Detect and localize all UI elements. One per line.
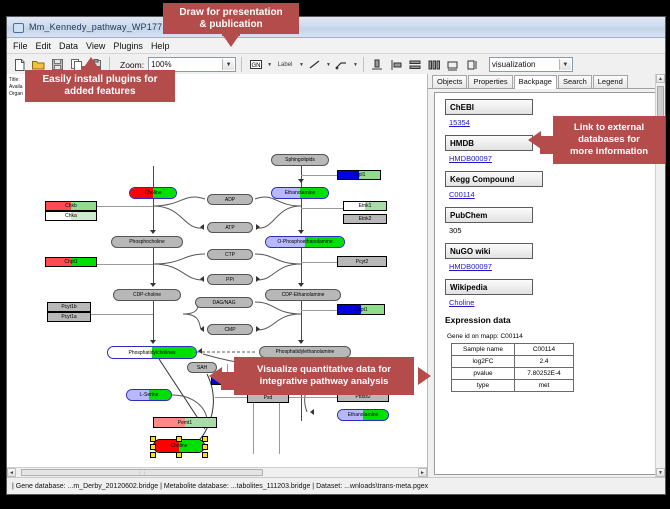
- edge: [301, 301, 302, 342]
- canvas-hscrollbar[interactable]: ◄ ⋮⋮ ►: [7, 467, 427, 477]
- exp-value: 7.80252E-4: [515, 368, 574, 380]
- edge: [289, 397, 337, 398]
- selection-handle[interactable]: [202, 436, 208, 442]
- gene-etnk2[interactable]: Etnk2: [343, 214, 387, 224]
- visualization-chevron-icon[interactable]: ▼: [559, 59, 571, 70]
- pathway-drawing[interactable]: Title: Availa Organ: [7, 74, 427, 477]
- node-cdp-choline[interactable]: CDP-choline: [113, 289, 181, 301]
- visualization-combo[interactable]: visualization ▼: [489, 57, 573, 72]
- svg-text:GN: GN: [251, 63, 260, 69]
- chevron-down-icon[interactable]: ▼: [222, 59, 234, 70]
- zoom-value: 100%: [151, 60, 171, 69]
- gene-pcyt1a[interactable]: Pcyt1a: [47, 312, 91, 322]
- menu-item-file[interactable]: File: [13, 41, 28, 51]
- db-header-hmdb: HMDB: [445, 135, 533, 151]
- scroll-down-icon[interactable]: ▼: [656, 468, 665, 477]
- scroll-right-icon[interactable]: ►: [418, 468, 427, 477]
- callout-plugins-line2: added features: [64, 86, 135, 98]
- selection-handle[interactable]: [202, 444, 208, 450]
- node-cdp-ethanolamine[interactable]: CDP-Ethanolamine: [265, 289, 341, 301]
- label-dropdown-icon[interactable]: ▼: [299, 62, 304, 68]
- datanode-dropdown-icon[interactable]: ▼: [267, 62, 272, 68]
- selection-handle[interactable]: [150, 444, 156, 450]
- node-choline-top[interactable]: Choline: [129, 187, 177, 199]
- edge: [97, 206, 153, 207]
- node-dag-nag[interactable]: DAG/NAG: [195, 297, 253, 308]
- arrow-icon: [198, 348, 202, 354]
- arrow-icon: [256, 276, 260, 282]
- callout-link-stem: [540, 136, 554, 154]
- callout-link-line1: Link to external: [574, 122, 644, 134]
- arrow-icon: [200, 224, 204, 230]
- callout-visualize-line2: integrative pathway analysis: [260, 376, 389, 388]
- callout-visualize-line1: Visualize quantitative data for: [257, 364, 391, 376]
- callout-draw-stem: [222, 30, 240, 36]
- edge: [301, 310, 337, 311]
- node-adp[interactable]: ADP: [207, 194, 253, 205]
- node-ctp[interactable]: CTP: [207, 249, 253, 260]
- app-icon: [12, 21, 24, 33]
- menu-item-data[interactable]: Data: [59, 41, 78, 51]
- callout-visualize: Visualize quantitative data for integrat…: [234, 357, 414, 395]
- label-icon[interactable]: Label: [274, 56, 296, 73]
- toolbar-separator-2: [241, 57, 242, 72]
- menu-item-help[interactable]: Help: [151, 41, 170, 51]
- callout-link-line2: databases for: [578, 134, 640, 146]
- db-header-pubchem: PubChem: [445, 207, 533, 223]
- gene-cept1[interactable]: Cept1: [337, 304, 385, 315]
- gene-sgpl1[interactable]: Sgpl1: [337, 170, 381, 180]
- expression-data-title: Expression data: [445, 315, 660, 325]
- db-header-wikipedia: Wikipedia: [445, 279, 533, 295]
- zoom-label: Zoom:: [120, 60, 144, 70]
- db-link-nugowiki[interactable]: HMDB00097: [449, 262, 660, 271]
- exp-key: log2FC: [452, 356, 515, 368]
- title-bar: Mm_Kennedy_pathway_WP1771_45176.gpml: [7, 17, 665, 38]
- arrow-icon: [298, 179, 304, 183]
- gene-pemt1[interactable]: Pemt1: [153, 417, 217, 428]
- table-row: Sample name C00114: [452, 344, 574, 356]
- selection-handle[interactable]: [202, 452, 208, 458]
- node-atp[interactable]: ATP: [207, 222, 253, 233]
- exp-key: Sample name: [452, 344, 515, 356]
- selection-handle[interactable]: [150, 452, 156, 458]
- tab-objects[interactable]: Objects: [432, 75, 467, 88]
- db-header-nugowiki: NuGO wiki: [445, 243, 533, 259]
- exp-value: met: [515, 380, 574, 392]
- arrow-icon: [298, 230, 304, 234]
- callout-draw-line2: & publication: [199, 19, 262, 31]
- gene-chkb[interactable]: Chkb: [45, 201, 97, 211]
- expression-table: Sample name C00114 log2FC 2.4 pvalue 7.8…: [451, 343, 574, 392]
- edge: [301, 175, 337, 176]
- interaction-icon[interactable]: [333, 56, 350, 73]
- toolbar-separator-3: [363, 57, 364, 72]
- table-row: pvalue 7.80252E-4: [452, 368, 574, 380]
- line-icon[interactable]: [306, 56, 323, 73]
- datanode-icon[interactable]: GN: [247, 56, 264, 73]
- db-header-chebi: ChEBI: [445, 99, 533, 115]
- edge: [301, 166, 302, 187]
- exp-key: pvalue: [452, 368, 515, 380]
- node-phosphatidylcholines[interactable]: Phosphatidylcholines: [107, 346, 197, 359]
- node-ethanolamine-top[interactable]: Ethanolamine: [271, 187, 329, 199]
- node-sphingolipids[interactable]: Sphingolipids: [271, 154, 329, 166]
- node-ethanolamine-bottom[interactable]: Ethanolamine: [337, 409, 389, 421]
- side-panel-tabs: Objects Properties Backpage Search Legen…: [428, 74, 665, 89]
- gene-etnk1[interactable]: Etnk1: [343, 201, 387, 211]
- line-dropdown-icon[interactable]: ▼: [326, 62, 331, 68]
- callout-plugins-line1: Easily install plugins for: [42, 74, 157, 86]
- gene-chpt1[interactable]: Chpt1: [45, 257, 97, 267]
- callout-plugins-stem: [82, 66, 100, 74]
- callout-visualize-stem: [221, 372, 235, 390]
- menu-item-edit[interactable]: Edit: [36, 41, 52, 51]
- selection-handle[interactable]: [176, 452, 182, 458]
- edge: [91, 314, 153, 315]
- exp-key: type: [452, 380, 515, 392]
- visualization-value: visualization: [492, 60, 536, 69]
- size-common-width-icon[interactable]: [445, 56, 462, 73]
- scroll-left-icon[interactable]: ◄: [7, 468, 16, 477]
- arrow-icon: [200, 326, 204, 332]
- arrow-icon: [256, 326, 260, 332]
- edge: [215, 397, 249, 398]
- tab-backpage[interactable]: Backpage: [514, 75, 557, 89]
- db-link-wikipedia[interactable]: Choline: [449, 298, 660, 307]
- stack-vertical-icon[interactable]: [407, 56, 424, 73]
- status-bar: | Gene database: ...m_Derby_20120602.bri…: [7, 477, 665, 494]
- arrow-icon: [200, 276, 204, 282]
- selection-handle[interactable]: [176, 436, 182, 442]
- gene-pcyt1b[interactable]: Pcyt1b: [47, 302, 91, 312]
- arrow-icon: [298, 340, 304, 344]
- node-cmp[interactable]: CMP: [207, 324, 253, 335]
- edge: [301, 208, 343, 209]
- node-phosphocholine[interactable]: Phosphocholine: [111, 236, 183, 248]
- menu-item-view[interactable]: View: [86, 41, 105, 51]
- align-top-icon[interactable]: [369, 56, 386, 73]
- arrow-icon: [256, 224, 260, 230]
- table-row: type met: [452, 380, 574, 392]
- node-l-serine-left[interactable]: L-Serine: [126, 389, 172, 401]
- db-link-kegg[interactable]: C00114: [449, 190, 660, 199]
- callout-link-line3: more information: [570, 146, 648, 158]
- hscroll-thumb[interactable]: ⋮⋮: [21, 469, 263, 476]
- db-value-pubchem: 305: [449, 226, 660, 235]
- edge: [301, 248, 302, 285]
- db-header-kegg: Kegg Compound: [445, 171, 543, 187]
- gene-id-on-mapp: Gene id on mapp: C00114: [447, 333, 660, 340]
- distribute-icon[interactable]: [426, 56, 443, 73]
- edge: [301, 262, 337, 263]
- status-text: | Gene database: ...m_Derby_20120602.bri…: [12, 483, 428, 490]
- tab-legend[interactable]: Legend: [593, 75, 628, 88]
- callout-draw-line1: Draw for presentation: [179, 7, 282, 19]
- size-common-height-icon[interactable]: [464, 56, 481, 73]
- selection-handle[interactable]: [150, 436, 156, 442]
- interaction-dropdown-icon[interactable]: ▼: [353, 62, 358, 68]
- callout-link: Link to external databases for more info…: [553, 116, 665, 164]
- align-left-icon[interactable]: [388, 56, 405, 73]
- edge: [97, 264, 153, 265]
- menu-item-plugins[interactable]: Plugins: [113, 41, 143, 51]
- gene-chka[interactable]: Chka: [45, 211, 97, 221]
- exp-value: 2.4: [515, 356, 574, 368]
- table-row: log2FC 2.4: [452, 356, 574, 368]
- gene-pcyt2[interactable]: Pcyt2: [337, 256, 387, 267]
- callout-plugins: Easily install plugins for added feature…: [25, 70, 175, 102]
- arrow-icon: [310, 409, 314, 415]
- tab-properties[interactable]: Properties: [468, 75, 512, 88]
- node-o-phosphoethanolamine[interactable]: O-Phosphoethanolamine: [265, 236, 345, 248]
- scroll-up-icon[interactable]: ▲: [656, 74, 665, 83]
- node-ppi[interactable]: PPi: [207, 274, 253, 285]
- pathway-canvas[interactable]: Title: Availa Organ: [7, 74, 428, 477]
- menu-bar: File Edit Data View Plugins Help: [7, 38, 665, 54]
- edge: [301, 199, 302, 233]
- callout-visualize-arrow-right: [418, 367, 431, 385]
- tab-search[interactable]: Search: [558, 75, 592, 88]
- exp-value: C00114: [515, 344, 574, 356]
- arrow-icon: [298, 283, 304, 287]
